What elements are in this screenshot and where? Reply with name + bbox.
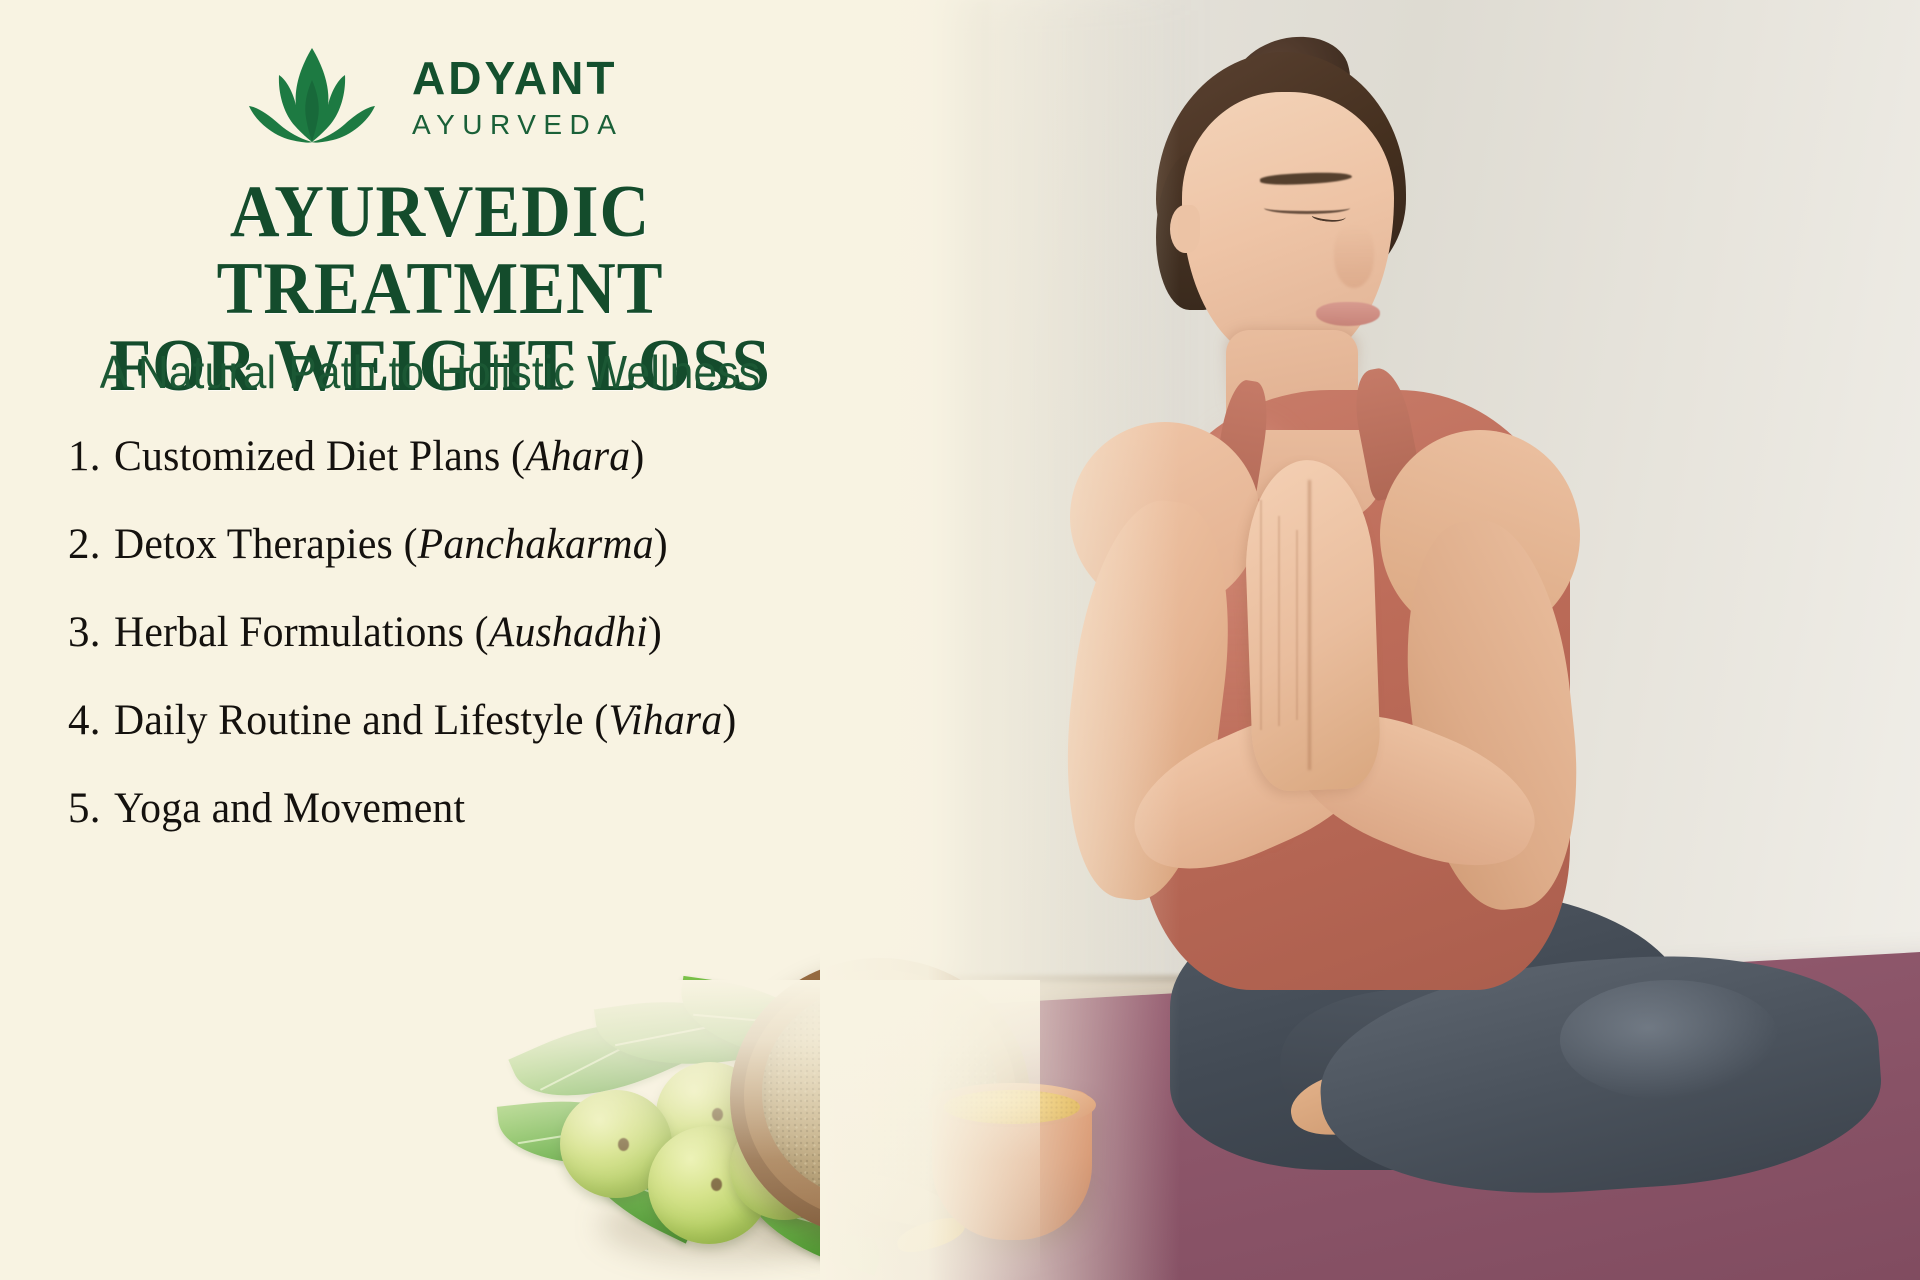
list-item-number: 1. [68, 432, 114, 481]
brand-subname: AYURVEDA [412, 111, 623, 139]
ear [1170, 205, 1200, 253]
list-item-text: Yoga and Movement [114, 784, 465, 833]
finger-line [1296, 530, 1298, 720]
knee-highlight [1560, 980, 1780, 1100]
brand-wordmark: ADYANT AYURVEDA [412, 55, 623, 139]
list-item-close: ) [654, 521, 668, 568]
list-item-label: Daily Routine and Lifestyle ( [114, 697, 608, 744]
page-subtitle: A Natural Path to Holistic Wellness [34, 345, 825, 399]
list-item-close: ) [648, 609, 662, 656]
list-item-text: Customized Diet Plans (Ahara) [114, 432, 644, 481]
list-item-number: 4. [68, 696, 114, 745]
list-item-number: 5. [68, 784, 114, 833]
list-item-close: ) [722, 697, 736, 744]
list-item-close: ) [630, 433, 644, 480]
list-item-label: Herbal Formulations ( [114, 609, 489, 656]
hand-seam [1308, 480, 1311, 770]
lotus-icon [238, 42, 386, 152]
list-item-term: Panchakarma [418, 521, 654, 568]
list-item-text: Herbal Formulations (Aushadhi) [114, 608, 662, 657]
list-item-text: Detox Therapies (Panchakarma) [114, 520, 668, 569]
brand-logo[interactable]: ADYANT AYURVEDA [238, 42, 623, 152]
lips [1316, 302, 1380, 326]
list-item: 3. Herbal Formulations (Aushadhi) [68, 608, 858, 657]
list-item-number: 2. [68, 520, 114, 569]
list-item-label: Yoga and Movement [114, 785, 465, 832]
finger-line [1260, 500, 1262, 730]
list-item-term: Aushadhi [489, 609, 648, 656]
list-item-label: Customized Diet Plans ( [114, 433, 525, 480]
list-item-label: Detox Therapies ( [114, 521, 418, 568]
list-item: 5. Yoga and Movement [68, 784, 858, 833]
list-item-number: 3. [68, 608, 114, 657]
list-item: 4. Daily Routine and Lifestyle (Vihara) [68, 696, 858, 745]
brand-name: ADYANT [412, 55, 623, 101]
list-item-term: Vihara [608, 697, 722, 744]
list-item-text: Daily Routine and Lifestyle (Vihara) [114, 696, 736, 745]
turmeric-powder [944, 1090, 1080, 1124]
treatment-list: 1. Customized Diet Plans (Ahara) 2. Deto… [68, 432, 858, 872]
nose [1334, 226, 1374, 288]
poster-canvas: ADYANT AYURVEDA AYURVEDIC TREATMENT FOR … [0, 0, 1920, 1280]
content-panel: ADYANT AYURVEDA AYURVEDIC TREATMENT FOR … [0, 0, 900, 1280]
finger-line [1278, 516, 1280, 726]
list-item: 2. Detox Therapies (Panchakarma) [68, 520, 858, 569]
title-line-1: AYURVEDIC TREATMENT [217, 171, 664, 330]
namaste-hands [1242, 458, 1381, 792]
list-item-term: Ahara [525, 433, 630, 480]
list-item: 1. Customized Diet Plans (Ahara) [68, 432, 858, 481]
